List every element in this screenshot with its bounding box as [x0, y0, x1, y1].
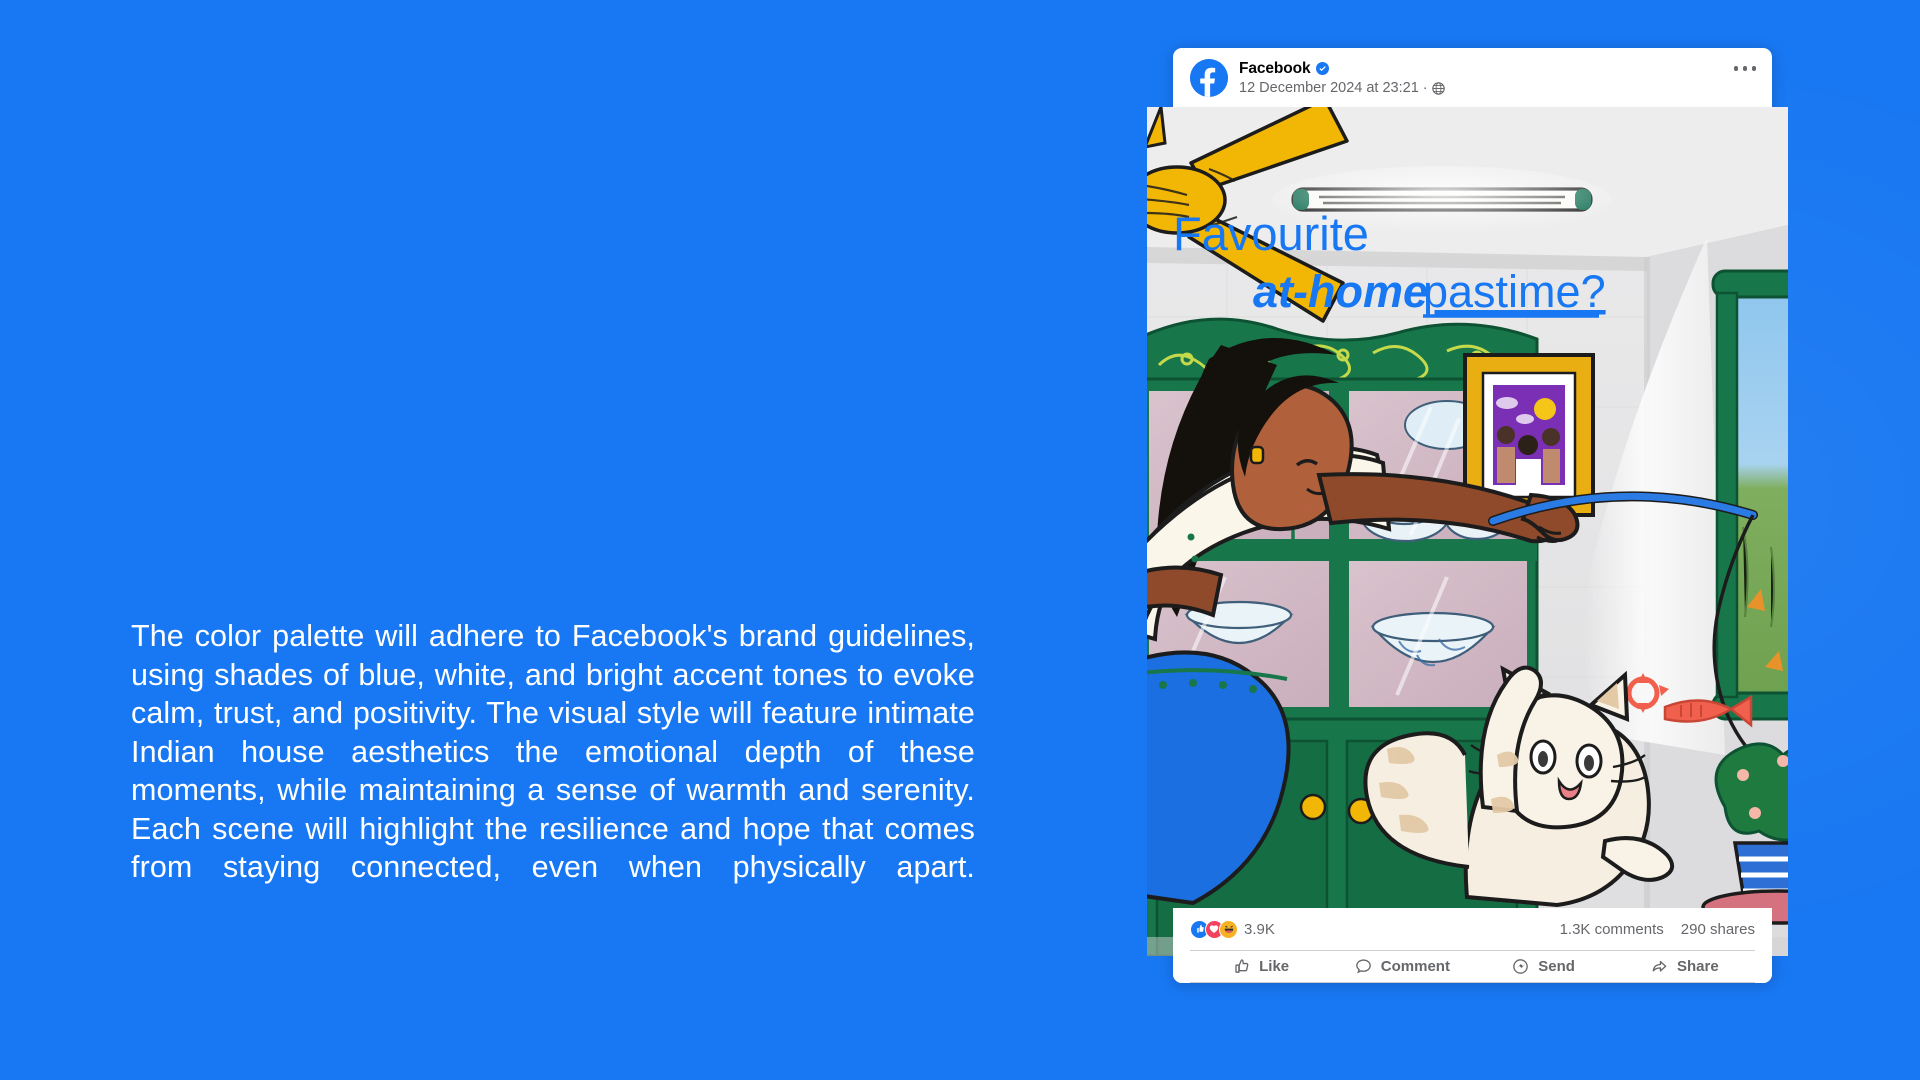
post-meta: Facebook 12 December 2024 at 23:21 · [1239, 60, 1445, 97]
facebook-post-card: Facebook 12 December 2024 at 23:21 · [1173, 48, 1772, 983]
action-bar: Like Comment Send Share [1190, 951, 1755, 982]
like-button-label: Like [1259, 958, 1289, 975]
comment-button-label: Comment [1381, 958, 1450, 975]
facebook-logo-icon[interactable] [1190, 59, 1228, 97]
verified-badge-icon [1316, 62, 1329, 75]
illustration-svg: Favourite at-home pastime? [1147, 107, 1788, 956]
footer-divider-bottom [1190, 982, 1755, 983]
haha-icon [1219, 920, 1238, 939]
headline-line-1: Favourite [1173, 207, 1369, 260]
share-arrow-icon [1650, 957, 1669, 976]
reaction-icons[interactable] [1190, 920, 1238, 939]
share-count[interactable]: 290 shares [1681, 921, 1755, 938]
headline-line-2-rest: pastime? [1423, 266, 1606, 317]
globe-icon[interactable] [1432, 82, 1445, 95]
post-header: Facebook 12 December 2024 at 23:21 · [1173, 48, 1772, 108]
post-footer: 3.9K 1.3K comments 290 shares Like Comme… [1173, 908, 1772, 983]
reaction-count[interactable]: 3.9K [1244, 921, 1275, 938]
share-button-label: Share [1677, 958, 1719, 975]
engagement-stats: 3.9K 1.3K comments 290 shares [1190, 908, 1755, 950]
more-options-icon[interactable] [1734, 66, 1757, 71]
page-name[interactable]: Facebook [1239, 60, 1311, 78]
post-timestamp[interactable]: 12 December 2024 at 23:21 [1239, 80, 1419, 97]
messenger-send-icon [1511, 957, 1530, 976]
post-illustration[interactable]: Favourite at-home pastime? [1147, 107, 1788, 956]
meta-separator: · [1423, 80, 1428, 97]
description-paragraph: The color palette will adhere to Faceboo… [131, 617, 975, 925]
like-button[interactable]: Like [1190, 951, 1331, 982]
headline-line-2-emphasis: at-home [1253, 266, 1428, 317]
thumbs-up-icon [1232, 957, 1251, 976]
comment-bubble-icon [1354, 957, 1373, 976]
send-button[interactable]: Send [1473, 951, 1614, 982]
comment-button[interactable]: Comment [1331, 951, 1472, 982]
green-window [1713, 271, 1788, 719]
comment-count[interactable]: 1.3K comments [1560, 921, 1664, 938]
share-button[interactable]: Share [1614, 951, 1755, 982]
send-button-label: Send [1538, 958, 1575, 975]
